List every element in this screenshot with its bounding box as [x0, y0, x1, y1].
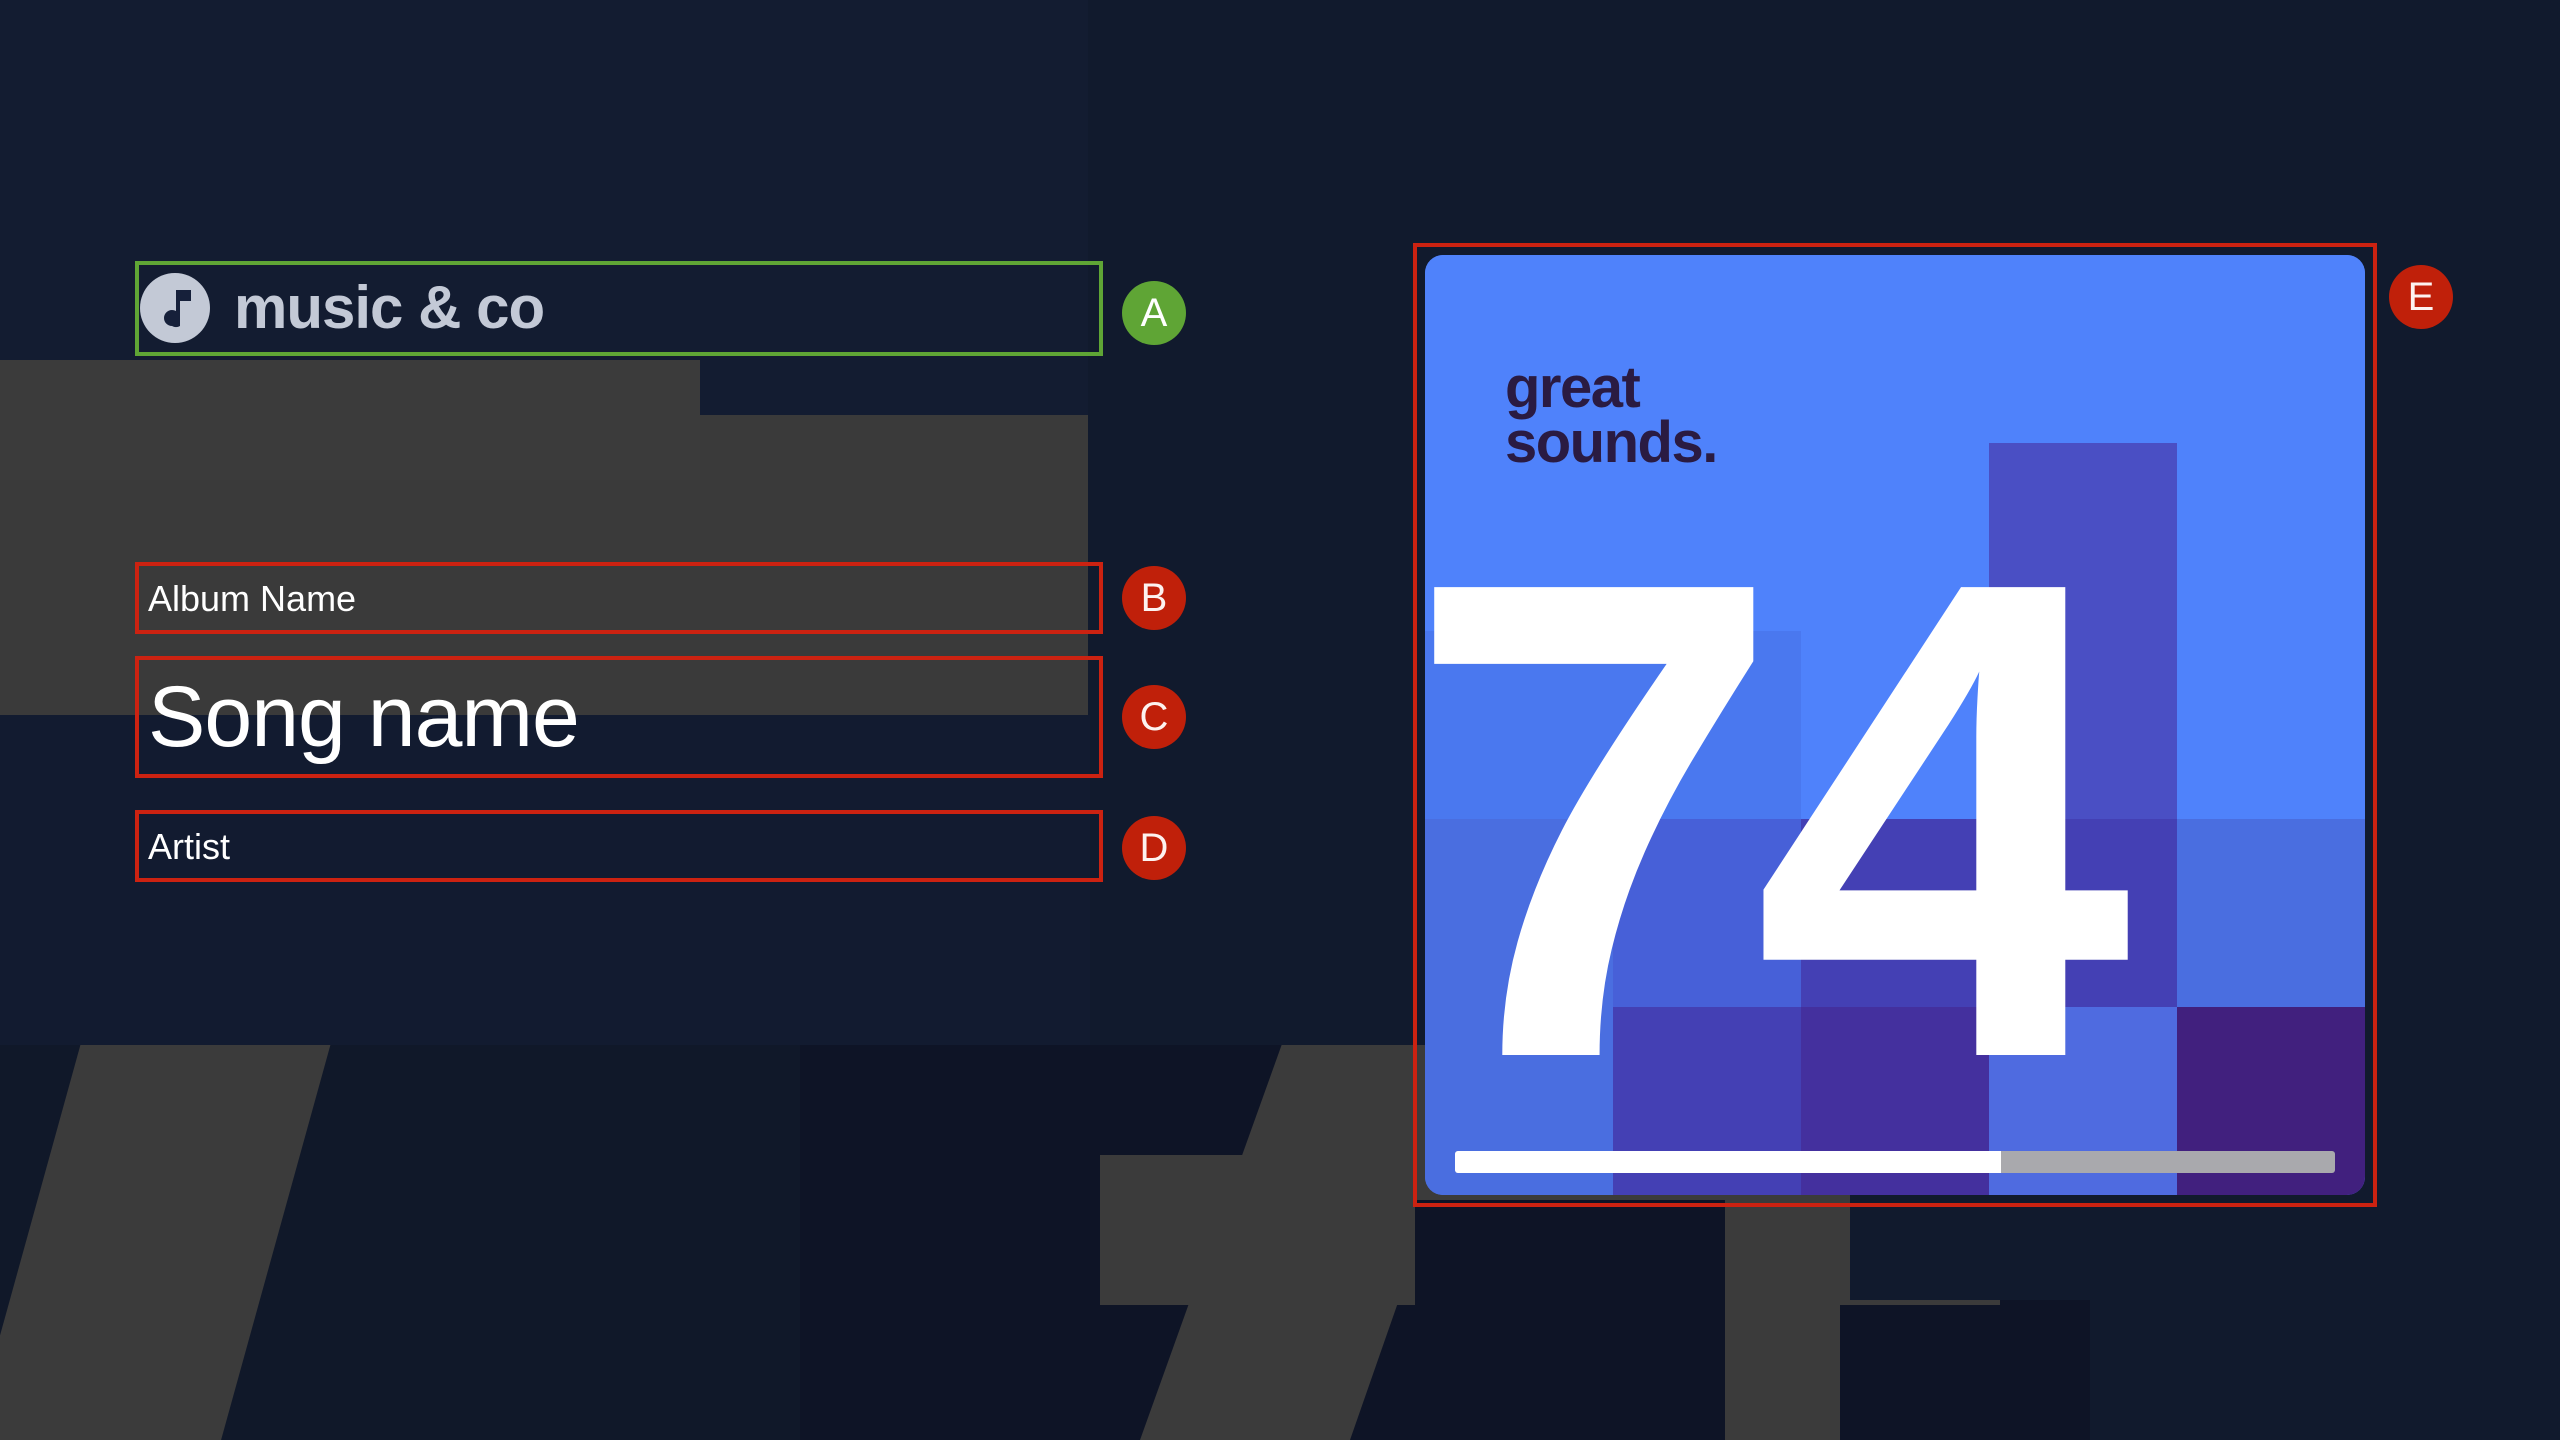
brand-name: music & co [234, 278, 544, 338]
playback-progress-bar[interactable] [1455, 1151, 2335, 1173]
screenshot-root: music & co Album Name Song name Artist g… [0, 0, 2560, 1440]
album-name-value: Album Name [148, 578, 356, 620]
art-grid-cell [1989, 255, 2177, 443]
song-name-field[interactable]: Song name [148, 662, 1098, 772]
annotation-badge-d: D [1122, 816, 1186, 880]
album-art-canvas: great sounds. 74 [1425, 255, 2365, 1195]
annotation-badge-e: E [2389, 265, 2453, 329]
annotation-badge-a: A [1122, 281, 1186, 345]
annotation-badge-c: C [1122, 685, 1186, 749]
art-tagline-line1: great [1505, 360, 1717, 415]
art-big-number: 74 [1425, 555, 2365, 1085]
brand-logo[interactable]: music & co [140, 267, 1100, 349]
song-name-value: Song name [148, 674, 579, 760]
music-note-circle-icon [140, 273, 210, 343]
artist-name-value: Artist [148, 826, 230, 868]
app-content: music & co Album Name Song name Artist g… [0, 0, 2560, 1440]
album-artwork[interactable]: great sounds. 74 [1425, 255, 2365, 1195]
annotation-badge-b: B [1122, 566, 1186, 630]
artist-name-field[interactable]: Artist [148, 818, 1098, 876]
art-grid-cell [2177, 255, 2365, 443]
art-grid-cell [1801, 255, 1989, 443]
playback-progress-fill [1455, 1151, 2001, 1173]
album-name-field[interactable]: Album Name [148, 570, 1098, 628]
